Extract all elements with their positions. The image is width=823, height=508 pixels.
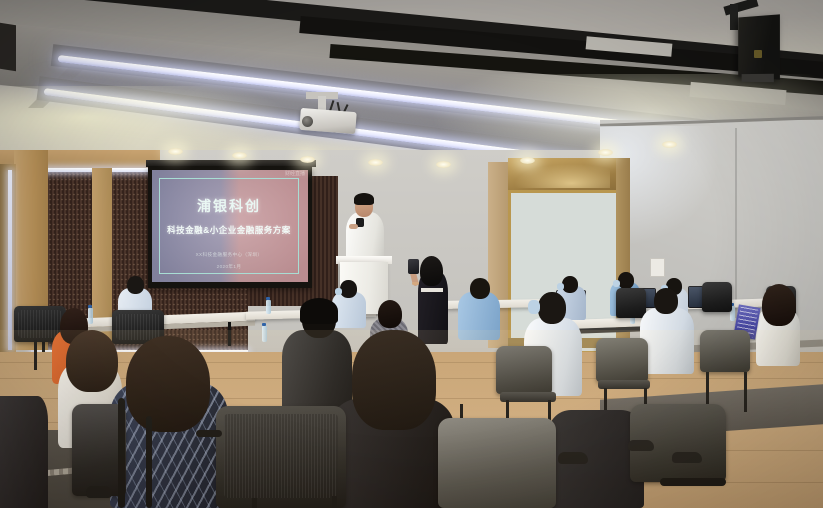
light-switch-panel[interactable] — [650, 258, 665, 277]
chair-armrest — [118, 398, 125, 508]
attendee-blue-shirt-back-head — [127, 276, 144, 294]
downlight-4 — [368, 159, 383, 166]
chair[interactable] — [438, 418, 556, 508]
shoe — [86, 486, 112, 498]
slide-title: 浦银科创 — [159, 196, 299, 216]
attendee-blue-polo-body — [458, 292, 500, 340]
chair-leg — [332, 496, 337, 508]
chair[interactable] — [700, 330, 750, 372]
projector-lens-icon — [302, 116, 313, 127]
wall-corner-seam — [735, 128, 737, 318]
chair-leg — [744, 372, 747, 412]
speaker-badge-icon — [754, 50, 762, 58]
shoe — [558, 452, 588, 464]
table-leg — [228, 322, 231, 346]
door-transom-glow — [514, 164, 610, 188]
downlight-5 — [436, 161, 451, 168]
attendee-white-shirt-head — [654, 288, 678, 314]
smartphone[interactable] — [408, 259, 419, 274]
slide-organization: XX科技金融服务中心（深圳） — [159, 252, 299, 258]
cove-light-glow-left — [0, 86, 300, 160]
downlight-6 — [520, 157, 535, 164]
shoe — [672, 452, 702, 463]
chair[interactable] — [596, 338, 648, 382]
chair[interactable] — [702, 282, 732, 312]
water-bottle[interactable] — [88, 308, 93, 324]
attendee-black-reading-hair — [352, 330, 436, 430]
chair-mesh-back — [116, 314, 160, 340]
attendee-woman-brochure-hair — [762, 284, 796, 326]
slide-subtitle: 科技金融&小企业金融服务方案 — [159, 224, 299, 236]
attendee-blue-shirt-mid-head — [618, 272, 634, 289]
chair-armrest — [196, 430, 222, 437]
slide-date: 2020年1月 — [159, 264, 299, 270]
face-mask-icon — [613, 280, 620, 287]
shoe — [628, 440, 654, 451]
attendee-blue-polo-head — [470, 278, 490, 299]
downlight-7 — [598, 149, 613, 156]
conference-room-photo: 浦银科创 科技金融&小企业金融服务方案 浦银科创 科技金融&小企业金融服务方案 … — [0, 0, 823, 508]
downlight-1 — [168, 148, 183, 155]
speaker-base — [742, 74, 774, 82]
water-bottle[interactable] — [266, 300, 271, 314]
attendee-far-left-seated-body — [0, 396, 48, 508]
downlight-8 — [662, 141, 677, 148]
chair-mesh-back — [18, 310, 62, 338]
attendee-white-top-hair — [66, 330, 118, 392]
attendee-black-tshirt-hair — [300, 298, 338, 324]
chair[interactable] — [616, 288, 646, 318]
wood-wall-led — [8, 170, 12, 350]
face-mask-icon — [335, 288, 342, 295]
downlight-2 — [232, 152, 247, 159]
face-mask-icon — [557, 283, 564, 290]
speaker-bracket-post — [730, 4, 738, 30]
presenter-hair — [354, 193, 374, 205]
face-mask-icon — [528, 300, 540, 314]
chair-frame-post — [146, 416, 152, 508]
bottle-cap-icon — [262, 323, 266, 326]
attendee-white-shirt-front-head — [538, 292, 566, 324]
photographer-hair — [420, 256, 443, 286]
loudspeaker — [738, 14, 780, 79]
chair-mesh-back — [224, 414, 338, 498]
attendee-navy-pattern-hair — [126, 336, 210, 432]
wall-panel-corner-left — [0, 23, 16, 72]
chair[interactable] — [496, 346, 552, 394]
attendee-gray-lace-hair — [378, 300, 402, 328]
bottle-cap-icon — [266, 297, 270, 300]
photographer-wrist — [412, 282, 419, 285]
photographer-belt — [421, 288, 443, 292]
chair-armrest — [660, 478, 726, 486]
downlight-3 — [300, 156, 315, 163]
broadcast-watermark: 财经直播 — [268, 170, 308, 180]
attendee-white-shirt-body — [640, 308, 694, 374]
attendee-gray-top-back-head — [562, 276, 578, 293]
chair-leg — [252, 498, 257, 508]
bottle-cap-icon — [88, 305, 92, 308]
water-bottle[interactable] — [262, 326, 267, 342]
presenter-hand — [349, 224, 358, 229]
chair-leg — [34, 340, 37, 370]
attendee-lightblue-shirt-head — [340, 280, 357, 298]
